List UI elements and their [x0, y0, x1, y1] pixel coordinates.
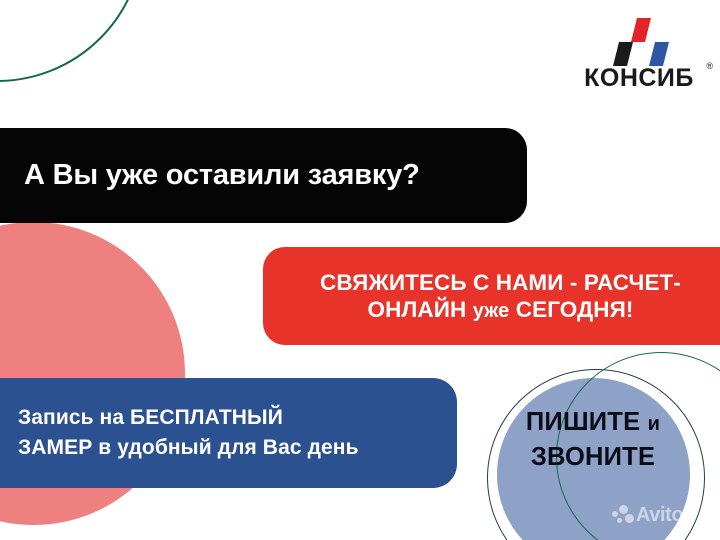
free-measurement-banner: Запись на БЕСПЛАТНЫЙ ЗАМЕР в удобный для…: [0, 378, 457, 488]
headline-banner: А Вы уже оставили заявку?: [0, 128, 527, 223]
contact-line-1: СВЯЖИТЕСЬ С НАМИ - РАСЧЕТ-: [320, 270, 681, 295]
konsib-mark-icon: [607, 18, 679, 66]
measure-line-1: Запись на БЕСПЛАТНЫЙ: [18, 406, 283, 429]
measure-line-2: ЗАМЕР в удобный для Вас день: [18, 436, 359, 459]
avito-watermark: Avito: [612, 505, 683, 525]
avito-wordmark: Avito: [636, 505, 683, 525]
headline-text: А Вы уже оставили заявку?: [24, 160, 420, 192]
cta-i: и: [648, 413, 661, 435]
trademark-symbol: ®: [706, 62, 713, 71]
free-measurement-text: Запись на БЕСПЛАТНЫЙ ЗАМЕР в удобный для…: [18, 403, 359, 463]
brand-logo: КОНСИБ ®: [565, 18, 713, 98]
contact-line-2-online: ОНЛАЙН: [368, 297, 467, 322]
brand-wordmark: КОНСИБ: [565, 66, 713, 91]
green-ring-decoration-top-left: [0, 0, 144, 82]
contact-line-2-uzhe: уже: [473, 300, 510, 322]
call-to-action-text: ПИШИТЕ и ЗВОНИТЕ: [489, 405, 697, 475]
contact-banner: СВЯЖИТЕСЬ С НАМИ - РАСЧЕТ- ОНЛАЙН уже СЕ…: [263, 247, 720, 345]
cta-pishite: ПИШИТЕ: [526, 408, 640, 436]
contact-line-2-segodnya: СЕГОДНЯ!: [516, 297, 634, 322]
avito-dots-icon: [612, 505, 634, 525]
poster-canvas: КОНСИБ ® А Вы уже оставили заявку? СВЯЖИ…: [0, 0, 720, 540]
contact-text: СВЯЖИТЕСЬ С НАМИ - РАСЧЕТ- ОНЛАЙН уже СЕ…: [320, 269, 681, 324]
cta-zvonite: ЗВОНИТЕ: [531, 443, 655, 471]
